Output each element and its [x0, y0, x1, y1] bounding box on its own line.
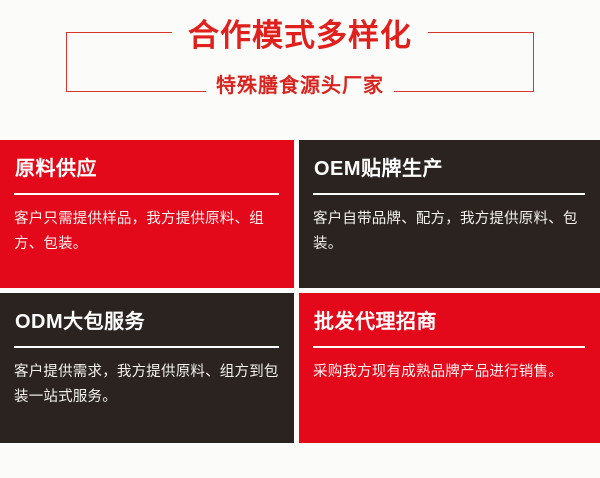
page-title: 合作模式多样化: [0, 16, 600, 56]
service-card-odm[interactable]: ODM大包服务 客户提供需求，我方提供原料、组方到包装一站式服务。: [0, 293, 294, 443]
card-body: 客户只需提供样品，我方提供原料、组方、包装。: [14, 207, 280, 257]
card-divider: [14, 193, 279, 195]
card-title: 批发代理招商: [314, 309, 586, 335]
card-body: 采购我方现有成熟品牌产品进行销售。: [313, 360, 586, 385]
service-card-grid: 原料供应 客户只需提供样品，我方提供原料、组方、包装。 OEM贴牌生产 客户自带…: [0, 140, 600, 443]
service-card-raw-material-supply[interactable]: 原料供应 客户只需提供样品，我方提供原料、组方、包装。: [0, 140, 294, 288]
card-title: 原料供应: [15, 156, 280, 182]
card-divider: [313, 193, 585, 195]
card-body: 客户提供需求，我方提供原料、组方到包装一站式服务。: [14, 360, 280, 410]
card-body: 客户自带品牌、配方，我方提供原料、包装。: [313, 207, 586, 257]
service-card-oem[interactable]: OEM贴牌生产 客户自带品牌、配方，我方提供原料、包装。: [299, 140, 600, 288]
card-divider: [14, 346, 279, 348]
header-banner: 合作模式多样化 特殊膳食源头厂家: [0, 0, 600, 132]
service-card-wholesale-agency[interactable]: 批发代理招商 采购我方现有成熟品牌产品进行销售。: [299, 293, 600, 443]
card-title: ODM大包服务: [15, 309, 280, 335]
card-divider: [313, 346, 585, 348]
page-subtitle-text: 特殊膳食源头厂家: [206, 72, 394, 100]
page-subtitle: 特殊膳食源头厂家: [0, 72, 600, 100]
page-title-text: 合作模式多样化: [172, 16, 428, 56]
card-title: OEM贴牌生产: [314, 156, 586, 182]
